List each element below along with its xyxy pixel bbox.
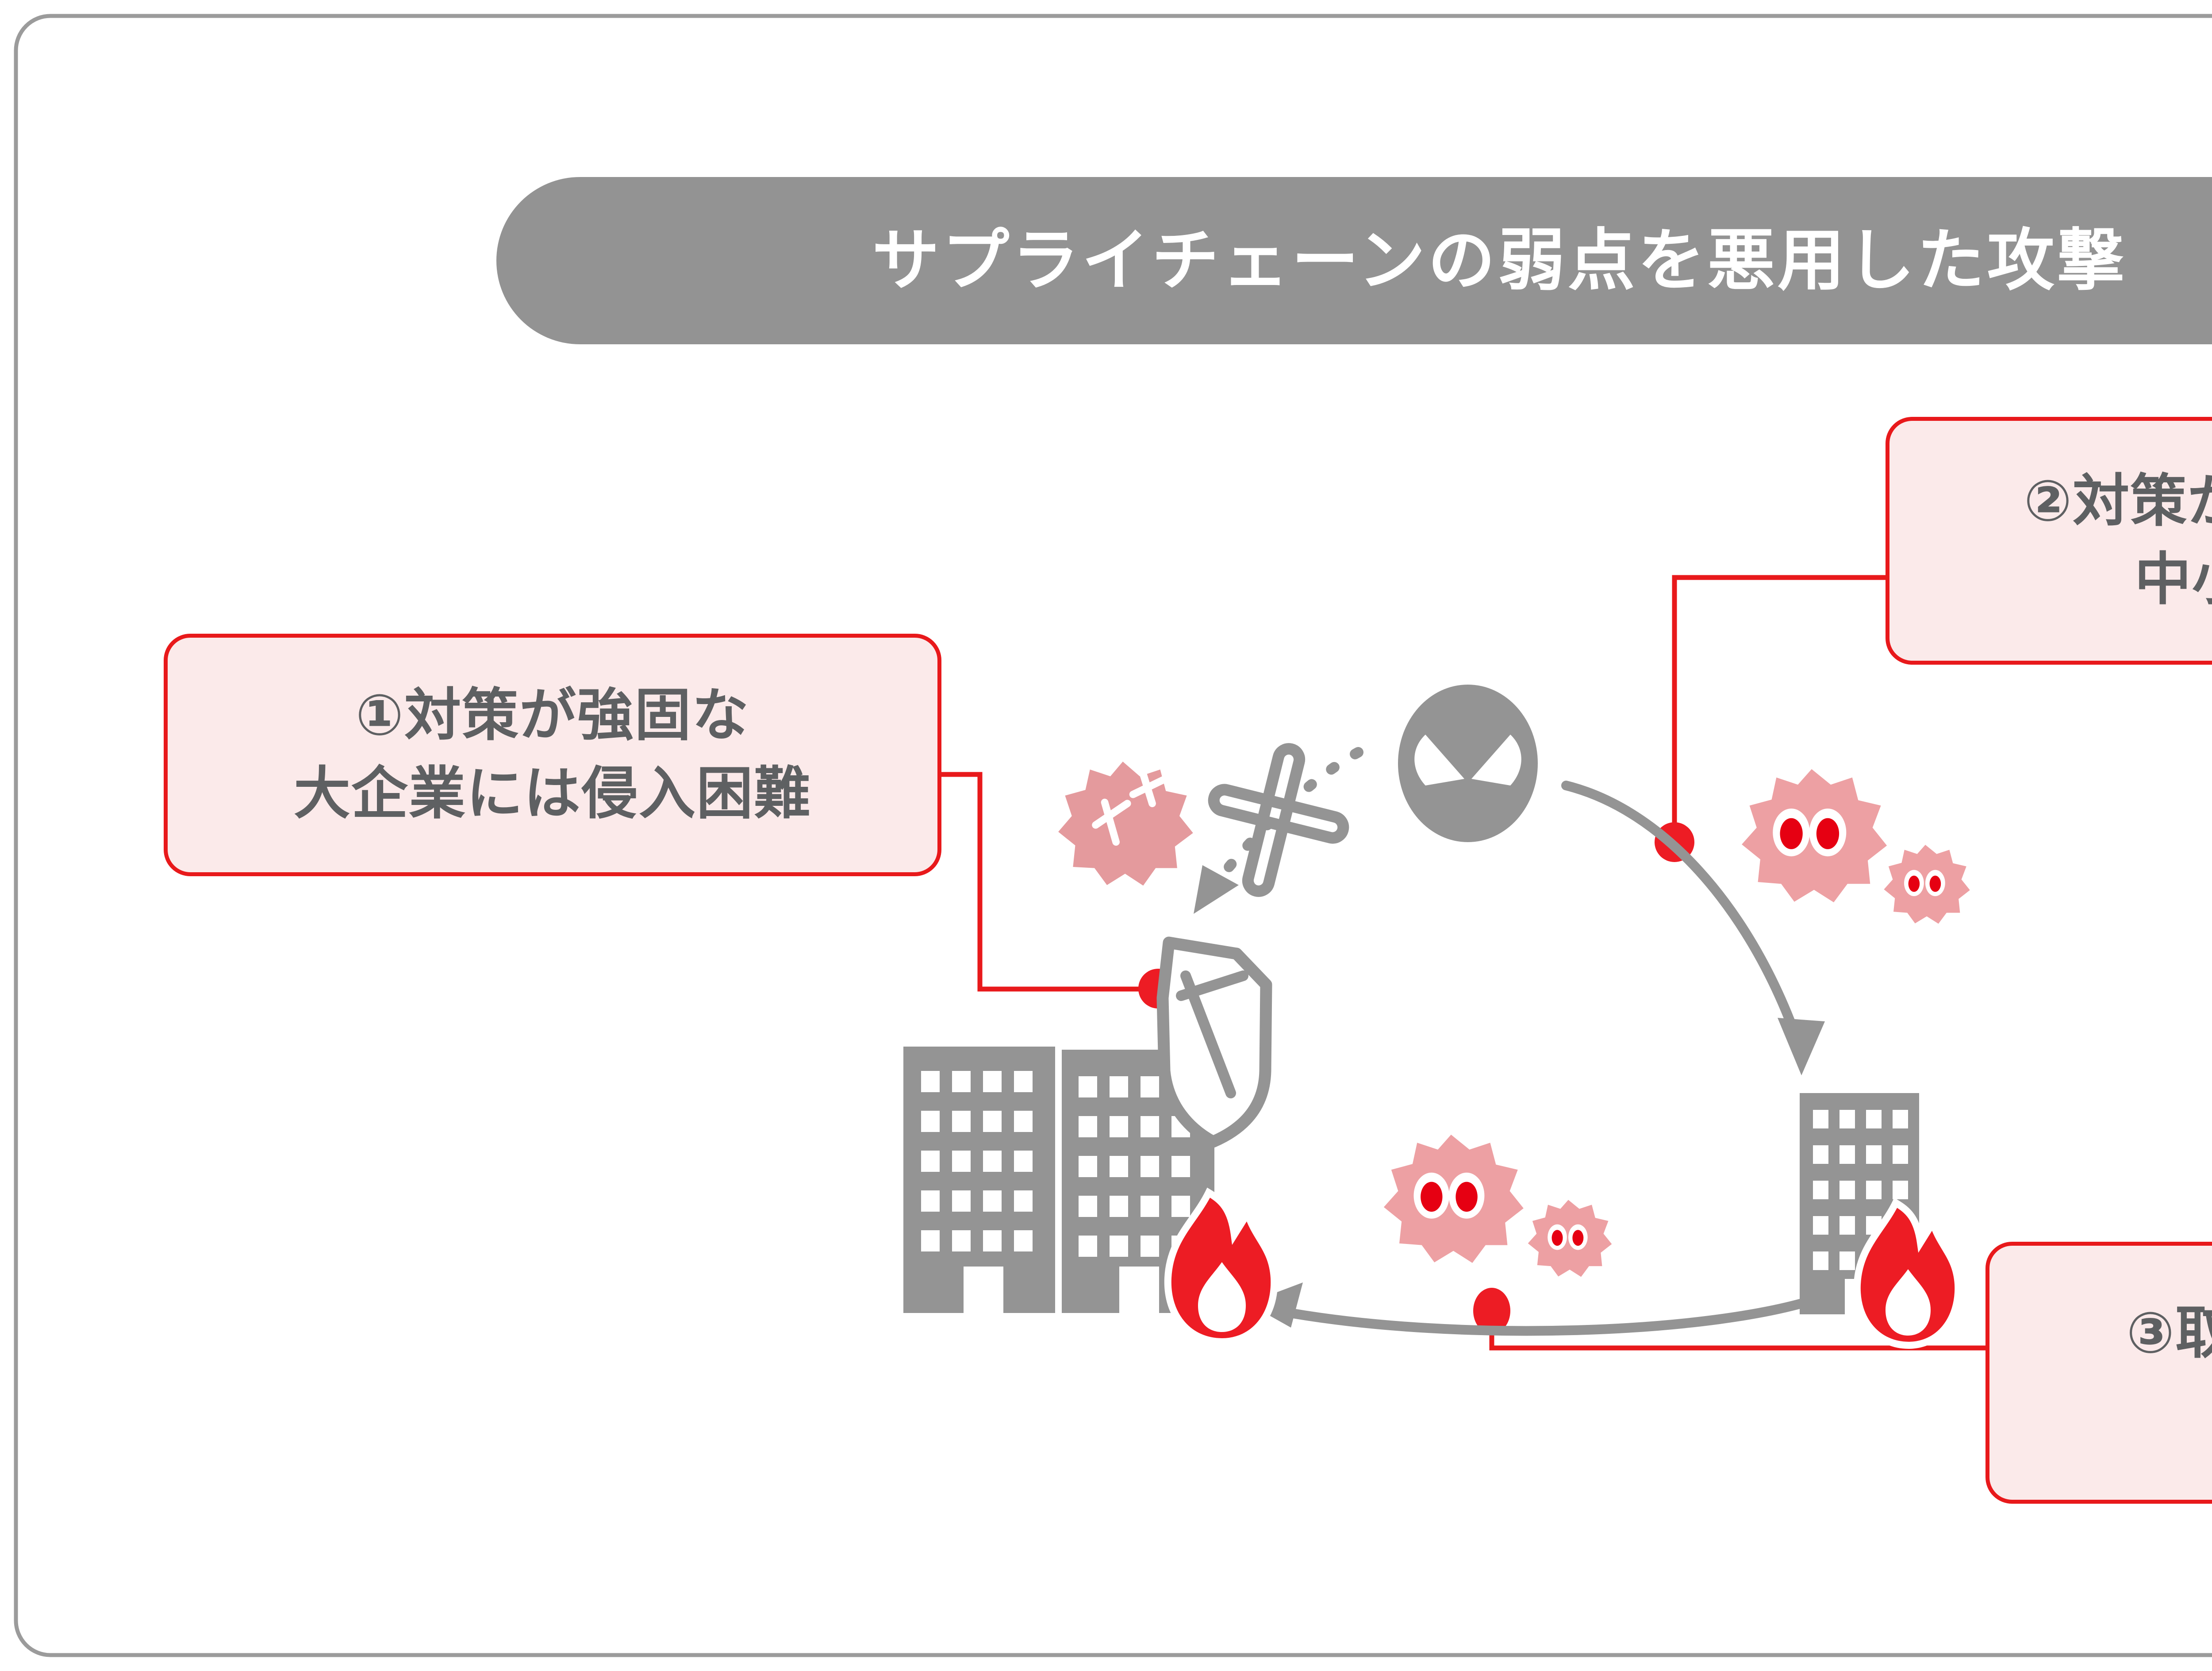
propagation-arrow-icon <box>1248 1282 1824 1331</box>
callout-3-line-1: ③取引先やグループ会社 <box>2127 1294 2212 1373</box>
callout-box-2: ②対策が手薄な取引先や 中小企業を攻撃 <box>1886 417 2212 665</box>
page-title: サプライチェーンの弱点を悪用した攻撃 <box>496 177 2212 344</box>
virus-plus-icon <box>1058 762 1193 886</box>
diagram-canvas: サプライチェーンの弱点を悪用した攻撃 ①対策が強固な 大企業には侵入困難 ②対策… <box>0 0 2212 1671</box>
shield-with-x-icon <box>1163 943 1266 1142</box>
callout-2-line-1: ②対策が手薄な取引先や <box>2024 462 2212 541</box>
virus-small-icon-right <box>1884 845 1970 924</box>
callout-box-1: ①対策が強固な 大企業には侵入困難 <box>164 634 941 876</box>
page-title-text: サプライチェーンの弱点を悪用した攻撃 <box>872 227 2127 294</box>
callout-1-line-2: 大企業には侵入困難 <box>294 755 811 833</box>
callout-1-line-1: ①対策が強固な <box>356 677 749 755</box>
virus-big-icon-right <box>1742 769 1887 902</box>
virus-big-icon-bottom <box>1384 1135 1524 1263</box>
virus-small-icon-bottom <box>1528 1200 1612 1277</box>
attacker-face-icon <box>1398 685 1538 842</box>
callout-box-3: ③取引先やグループ会社 を経由して侵入 <box>1985 1242 2212 1504</box>
callout-2-line-2: 中小企業を攻撃 <box>2135 541 2212 619</box>
